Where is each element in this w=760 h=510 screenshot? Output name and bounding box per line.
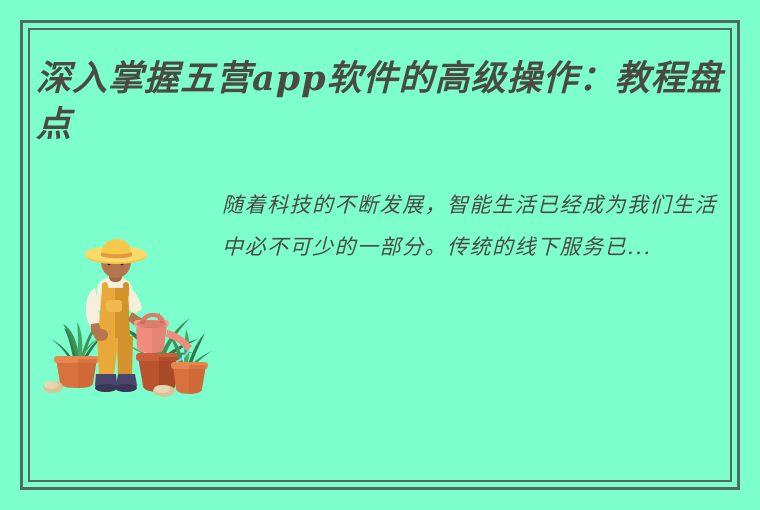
hat-crown: [102, 239, 131, 256]
article-card: 深入掌握五营app软件的高级操作：教程盘点 随着科技的不断发展，智能生活已经成为…: [0, 0, 760, 510]
hand-left: [94, 329, 108, 341]
article-excerpt: 随着科技的不断发展，智能生活已经成为我们生活中必不可少的一部分。传统的线下服务已…: [222, 184, 722, 268]
page-title: 深入掌握五营app软件的高级操作：教程盘点: [36, 56, 736, 148]
gardener-watering-plants-illustration: [40, 238, 215, 406]
